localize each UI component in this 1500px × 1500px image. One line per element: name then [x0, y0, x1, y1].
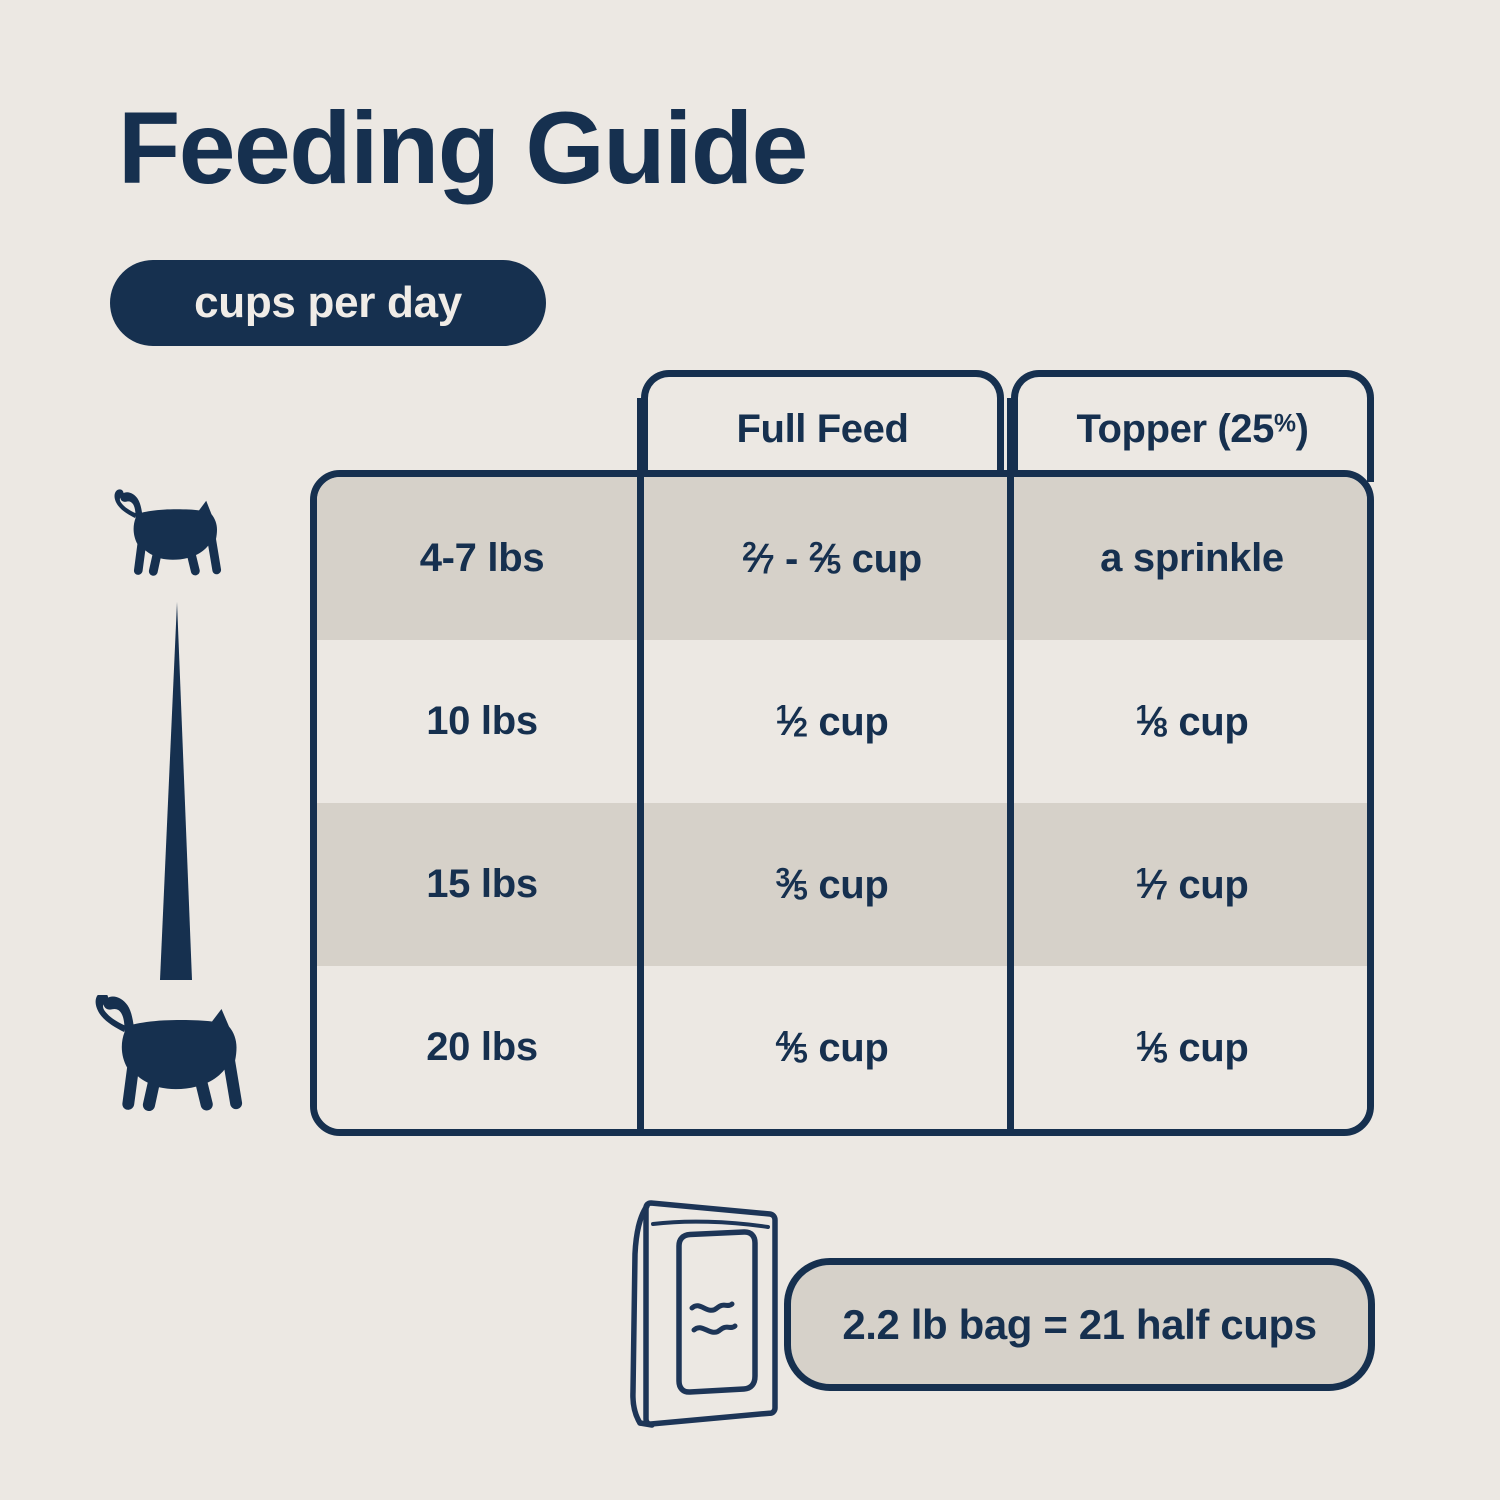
- fraction-denominator: 7: [760, 550, 774, 580]
- cell-topper-text: 1⁄5 cup: [1135, 1024, 1248, 1071]
- cell-weight-text: 20 lbs: [426, 1025, 538, 1070]
- column-header-full-feed-label: Full Feed: [737, 407, 909, 452]
- topper-label-tail: ): [1296, 407, 1309, 451]
- table-row: 20 lbs4⁄5 cup1⁄5 cup: [317, 966, 1367, 1129]
- cell-topper: 1⁄5 cup: [1017, 966, 1367, 1129]
- cell-full-feed-text: 4⁄5 cup: [775, 1024, 888, 1071]
- cell-weight: 15 lbs: [317, 803, 647, 966]
- cell-weight: 10 lbs: [317, 640, 647, 803]
- size-wedge-icon: [148, 602, 208, 980]
- column-header-topper-label: Topper (25%): [1076, 407, 1308, 452]
- cell-full-feed: 2⁄7 - 2⁄5 cup: [647, 477, 1017, 640]
- cell-full-feed-text: 2⁄7 - 2⁄5 cup: [742, 535, 922, 582]
- cell-weight: 4-7 lbs: [317, 477, 647, 640]
- cell-topper: 1⁄8 cup: [1017, 640, 1367, 803]
- cell-weight-text: 15 lbs: [426, 862, 538, 907]
- feeding-guide-infographic: Feeding Guide cups per day Full Feed Top…: [0, 0, 1500, 1500]
- page-title: Feeding Guide: [118, 96, 807, 200]
- fraction: 1⁄5: [1135, 1024, 1167, 1071]
- fraction-denominator: 5: [793, 1039, 807, 1069]
- topper-label-percent: %: [1274, 411, 1296, 438]
- column-divider-1: [637, 398, 644, 1136]
- cell-topper-text: a sprinkle: [1100, 536, 1284, 581]
- column-header-full-feed: Full Feed: [641, 370, 1004, 482]
- fraction: 3⁄5: [775, 861, 807, 908]
- fraction-denominator: 2: [793, 713, 807, 743]
- column-divider-2: [1007, 398, 1014, 1136]
- cell-topper: 1⁄7 cup: [1017, 803, 1367, 966]
- column-header-topper: Topper (25%): [1011, 370, 1374, 482]
- cell-full-feed-text: 3⁄5 cup: [775, 861, 888, 908]
- fraction-denominator: 5: [826, 550, 840, 580]
- cell-weight: 20 lbs: [317, 966, 647, 1129]
- topper-label-main: Topper (25: [1076, 407, 1274, 451]
- cell-topper: a sprinkle: [1017, 477, 1367, 640]
- cell-full-feed: 1⁄2 cup: [647, 640, 1017, 803]
- feeding-table: 4-7 lbs2⁄7 - 2⁄5 cupa sprinkle10 lbs1⁄2 …: [310, 470, 1374, 1136]
- fraction: 1⁄2: [775, 698, 807, 745]
- table-row: 10 lbs1⁄2 cup1⁄8 cup: [317, 640, 1367, 803]
- cell-full-feed: 3⁄5 cup: [647, 803, 1017, 966]
- bag-yield-bar: 2.2 lb bag = 21 half cups: [784, 1258, 1375, 1391]
- table-row: 15 lbs3⁄5 cup1⁄7 cup: [317, 803, 1367, 966]
- badge-label: cups per day: [194, 278, 462, 328]
- cell-weight-text: 10 lbs: [426, 699, 538, 744]
- fraction: 2⁄5: [809, 535, 841, 582]
- cell-topper-text: 1⁄7 cup: [1135, 861, 1248, 908]
- cell-weight-text: 4-7 lbs: [420, 536, 545, 581]
- cups-per-day-badge: cups per day: [110, 260, 546, 346]
- table-row: 4-7 lbs2⁄7 - 2⁄5 cupa sprinkle: [317, 477, 1367, 640]
- fraction-denominator: 8: [1153, 713, 1167, 743]
- fraction-denominator: 7: [1153, 876, 1167, 906]
- cell-full-feed: 4⁄5 cup: [647, 966, 1017, 1129]
- fraction: 1⁄7: [1135, 861, 1167, 908]
- cat-large-icon: [82, 995, 262, 1120]
- bag-yield-label: 2.2 lb bag = 21 half cups: [842, 1301, 1316, 1349]
- cell-topper-text: 1⁄8 cup: [1135, 698, 1248, 745]
- cat-small-icon: [110, 488, 234, 592]
- fraction-denominator: 5: [793, 876, 807, 906]
- cell-full-feed-text: 1⁄2 cup: [775, 698, 888, 745]
- fraction-denominator: 5: [1153, 1039, 1167, 1069]
- fraction: 2⁄7: [742, 535, 774, 582]
- fraction: 4⁄5: [775, 1024, 807, 1071]
- fraction: 1⁄8: [1135, 698, 1167, 745]
